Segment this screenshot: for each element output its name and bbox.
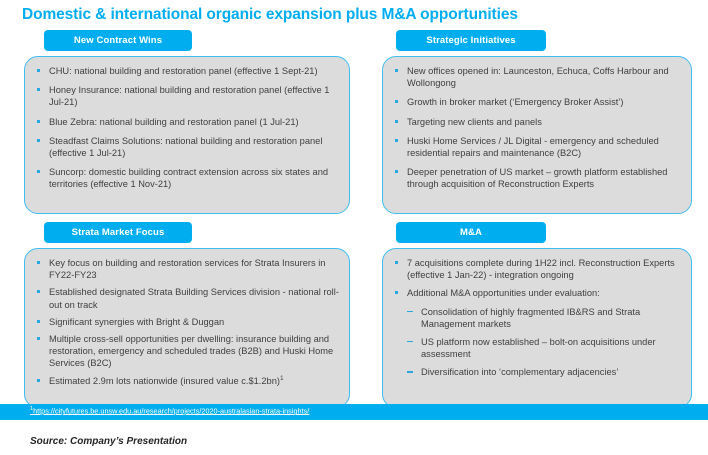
sub-list-item: Diversification into ‘complementary adja… <box>405 366 681 378</box>
card-strata-market-focus: Key focus on building and restoration se… <box>24 248 350 408</box>
list-item-text: Multiple cross-sell opportunities per dw… <box>49 334 333 368</box>
list-item-text: Huski Home Services / JL Digital - emerg… <box>407 136 659 158</box>
list-item: Suncorp: domestic building contract exte… <box>33 166 339 190</box>
bullet-dot-icon <box>395 100 398 103</box>
bullet-dot-icon <box>395 120 398 123</box>
bullet-dot-icon <box>37 379 40 382</box>
bullet-dot-icon <box>37 120 40 123</box>
card-ma: 7 acquisitions complete during 1H22 incl… <box>382 248 692 408</box>
list-item-text: Honey Insurance: national building and r… <box>49 85 329 107</box>
bullet-dot-icon <box>37 261 40 264</box>
list-item-text: Deeper penetration of US market – growth… <box>407 167 667 189</box>
list-item: CHU: national building and restoration p… <box>33 65 339 77</box>
bullet-dot-icon <box>37 337 40 340</box>
footnote-url-text: https://cityfutures.be.unsw.edu.au/resea… <box>33 406 309 415</box>
bullet-dot-icon <box>395 170 398 173</box>
list-item-text: Suncorp: domestic building contract exte… <box>49 167 328 189</box>
list-item-text: New offices opened in: Launceston, Echuc… <box>407 66 669 88</box>
list-item: Multiple cross-sell opportunities per dw… <box>33 333 339 370</box>
sub-list-item-text: US platform now established – bolt-on ac… <box>421 337 656 359</box>
bullet-dot-icon <box>395 291 398 294</box>
list-item: Blue Zebra: national building and restor… <box>33 116 339 128</box>
slide-canvas: Domestic & international organic expansi… <box>0 0 708 455</box>
panel-strategic-initiatives: Strategic Initiatives New offices opened… <box>382 30 692 214</box>
bullet-list-ma: 7 acquisitions complete during 1H22 incl… <box>391 257 681 300</box>
bullet-list-new-contract-wins: CHU: national building and restoration p… <box>33 65 339 191</box>
list-item-text: CHU: national building and restoration p… <box>49 66 318 76</box>
list-item-text: Key focus on building and restoration se… <box>49 258 325 280</box>
bullet-dot-icon <box>395 69 398 72</box>
footnote-link[interactable]: 1https://cityfutures.be.unsw.edu.au/rese… <box>30 406 309 415</box>
bullet-dot-icon <box>37 170 40 173</box>
list-item-text: Growth in broker market (‘Emergency Brok… <box>407 97 623 107</box>
source-caption: Source: Company’s Presentation <box>30 436 187 447</box>
panel-new-contract-wins: New Contract Wins CHU: national building… <box>24 30 350 214</box>
list-item: Targeting new clients and panels <box>391 116 681 128</box>
sub-bullet-list-ma: Consolidation of highly fragmented IB&RS… <box>405 306 681 379</box>
card-strategic-initiatives: New offices opened in: Launceston, Echuc… <box>382 56 692 214</box>
bullet-list-strata-market-focus: Key focus on building and restoration se… <box>33 257 339 387</box>
list-item: 7 acquisitions complete during 1H22 incl… <box>391 257 681 281</box>
sub-list-item: Consolidation of highly fragmented IB&RS… <box>405 306 681 330</box>
footnote-superscript: 1 <box>280 375 284 382</box>
list-item-text: Blue Zebra: national building and restor… <box>49 117 299 127</box>
panel-strata-market-focus: Strata Market Focus Key focus on buildin… <box>24 222 350 408</box>
bullet-dot-icon <box>37 320 40 323</box>
list-item-text: Estimated 2.9m lots nationwide (insured … <box>49 376 280 386</box>
footnote-bar: 1https://cityfutures.be.unsw.edu.au/rese… <box>0 404 708 420</box>
list-item-footnoted: Estimated 2.9m lots nationwide (insured … <box>33 375 339 387</box>
bullet-dot-icon <box>37 290 40 293</box>
list-item-text: Significant synergies with Bright & Dugg… <box>49 317 224 327</box>
bullet-list-strategic-initiatives: New offices opened in: Launceston, Echuc… <box>391 65 681 191</box>
bullet-dot-icon <box>37 88 40 91</box>
page-title: Domestic & international organic expansi… <box>22 6 692 24</box>
list-item: Steadfast Claims Solutions: national bui… <box>33 135 339 159</box>
pill-strata-market-focus: Strata Market Focus <box>44 222 192 243</box>
panel-ma: M&A 7 acquisitions complete during 1H22 … <box>382 222 692 408</box>
dash-icon <box>407 371 413 372</box>
list-item: New offices opened in: Launceston, Echuc… <box>391 65 681 89</box>
list-item: Significant synergies with Bright & Dugg… <box>33 316 339 328</box>
pill-strategic-initiatives: Strategic Initiatives <box>396 30 546 51</box>
list-item: Key focus on building and restoration se… <box>33 257 339 281</box>
list-item-text: Established designated Strata Building S… <box>49 287 339 309</box>
list-item-text: Additional M&A opportunities under evalu… <box>407 288 600 298</box>
list-item: Deeper penetration of US market – growth… <box>391 166 681 190</box>
sub-list-item-text: Consolidation of highly fragmented IB&RS… <box>421 307 640 329</box>
sub-list-item-text: Diversification into ‘complementary adja… <box>421 367 618 377</box>
pill-new-contract-wins: New Contract Wins <box>44 30 192 51</box>
card-new-contract-wins: CHU: national building and restoration p… <box>24 56 350 214</box>
bullet-dot-icon <box>37 139 40 142</box>
list-item: Huski Home Services / JL Digital - emerg… <box>391 135 681 159</box>
bullet-dot-icon <box>37 69 40 72</box>
sub-list-item: US platform now established – bolt-on ac… <box>405 336 681 360</box>
bullet-dot-icon <box>395 139 398 142</box>
list-item-text: Steadfast Claims Solutions: national bui… <box>49 136 322 158</box>
list-item: Additional M&A opportunities under evalu… <box>391 287 681 299</box>
dash-icon <box>407 341 413 342</box>
list-item-text: 7 acquisitions complete during 1H22 incl… <box>407 258 675 280</box>
list-item: Honey Insurance: national building and r… <box>33 84 339 108</box>
list-item: Established designated Strata Building S… <box>33 286 339 310</box>
sub-bullet-group-ma: Consolidation of highly fragmented IB&RS… <box>391 306 681 379</box>
bullet-dot-icon <box>395 261 398 264</box>
list-item: Growth in broker market (‘Emergency Brok… <box>391 96 681 108</box>
pill-ma: M&A <box>396 222 546 243</box>
list-item-text: Targeting new clients and panels <box>407 117 542 127</box>
dash-icon <box>407 311 413 312</box>
